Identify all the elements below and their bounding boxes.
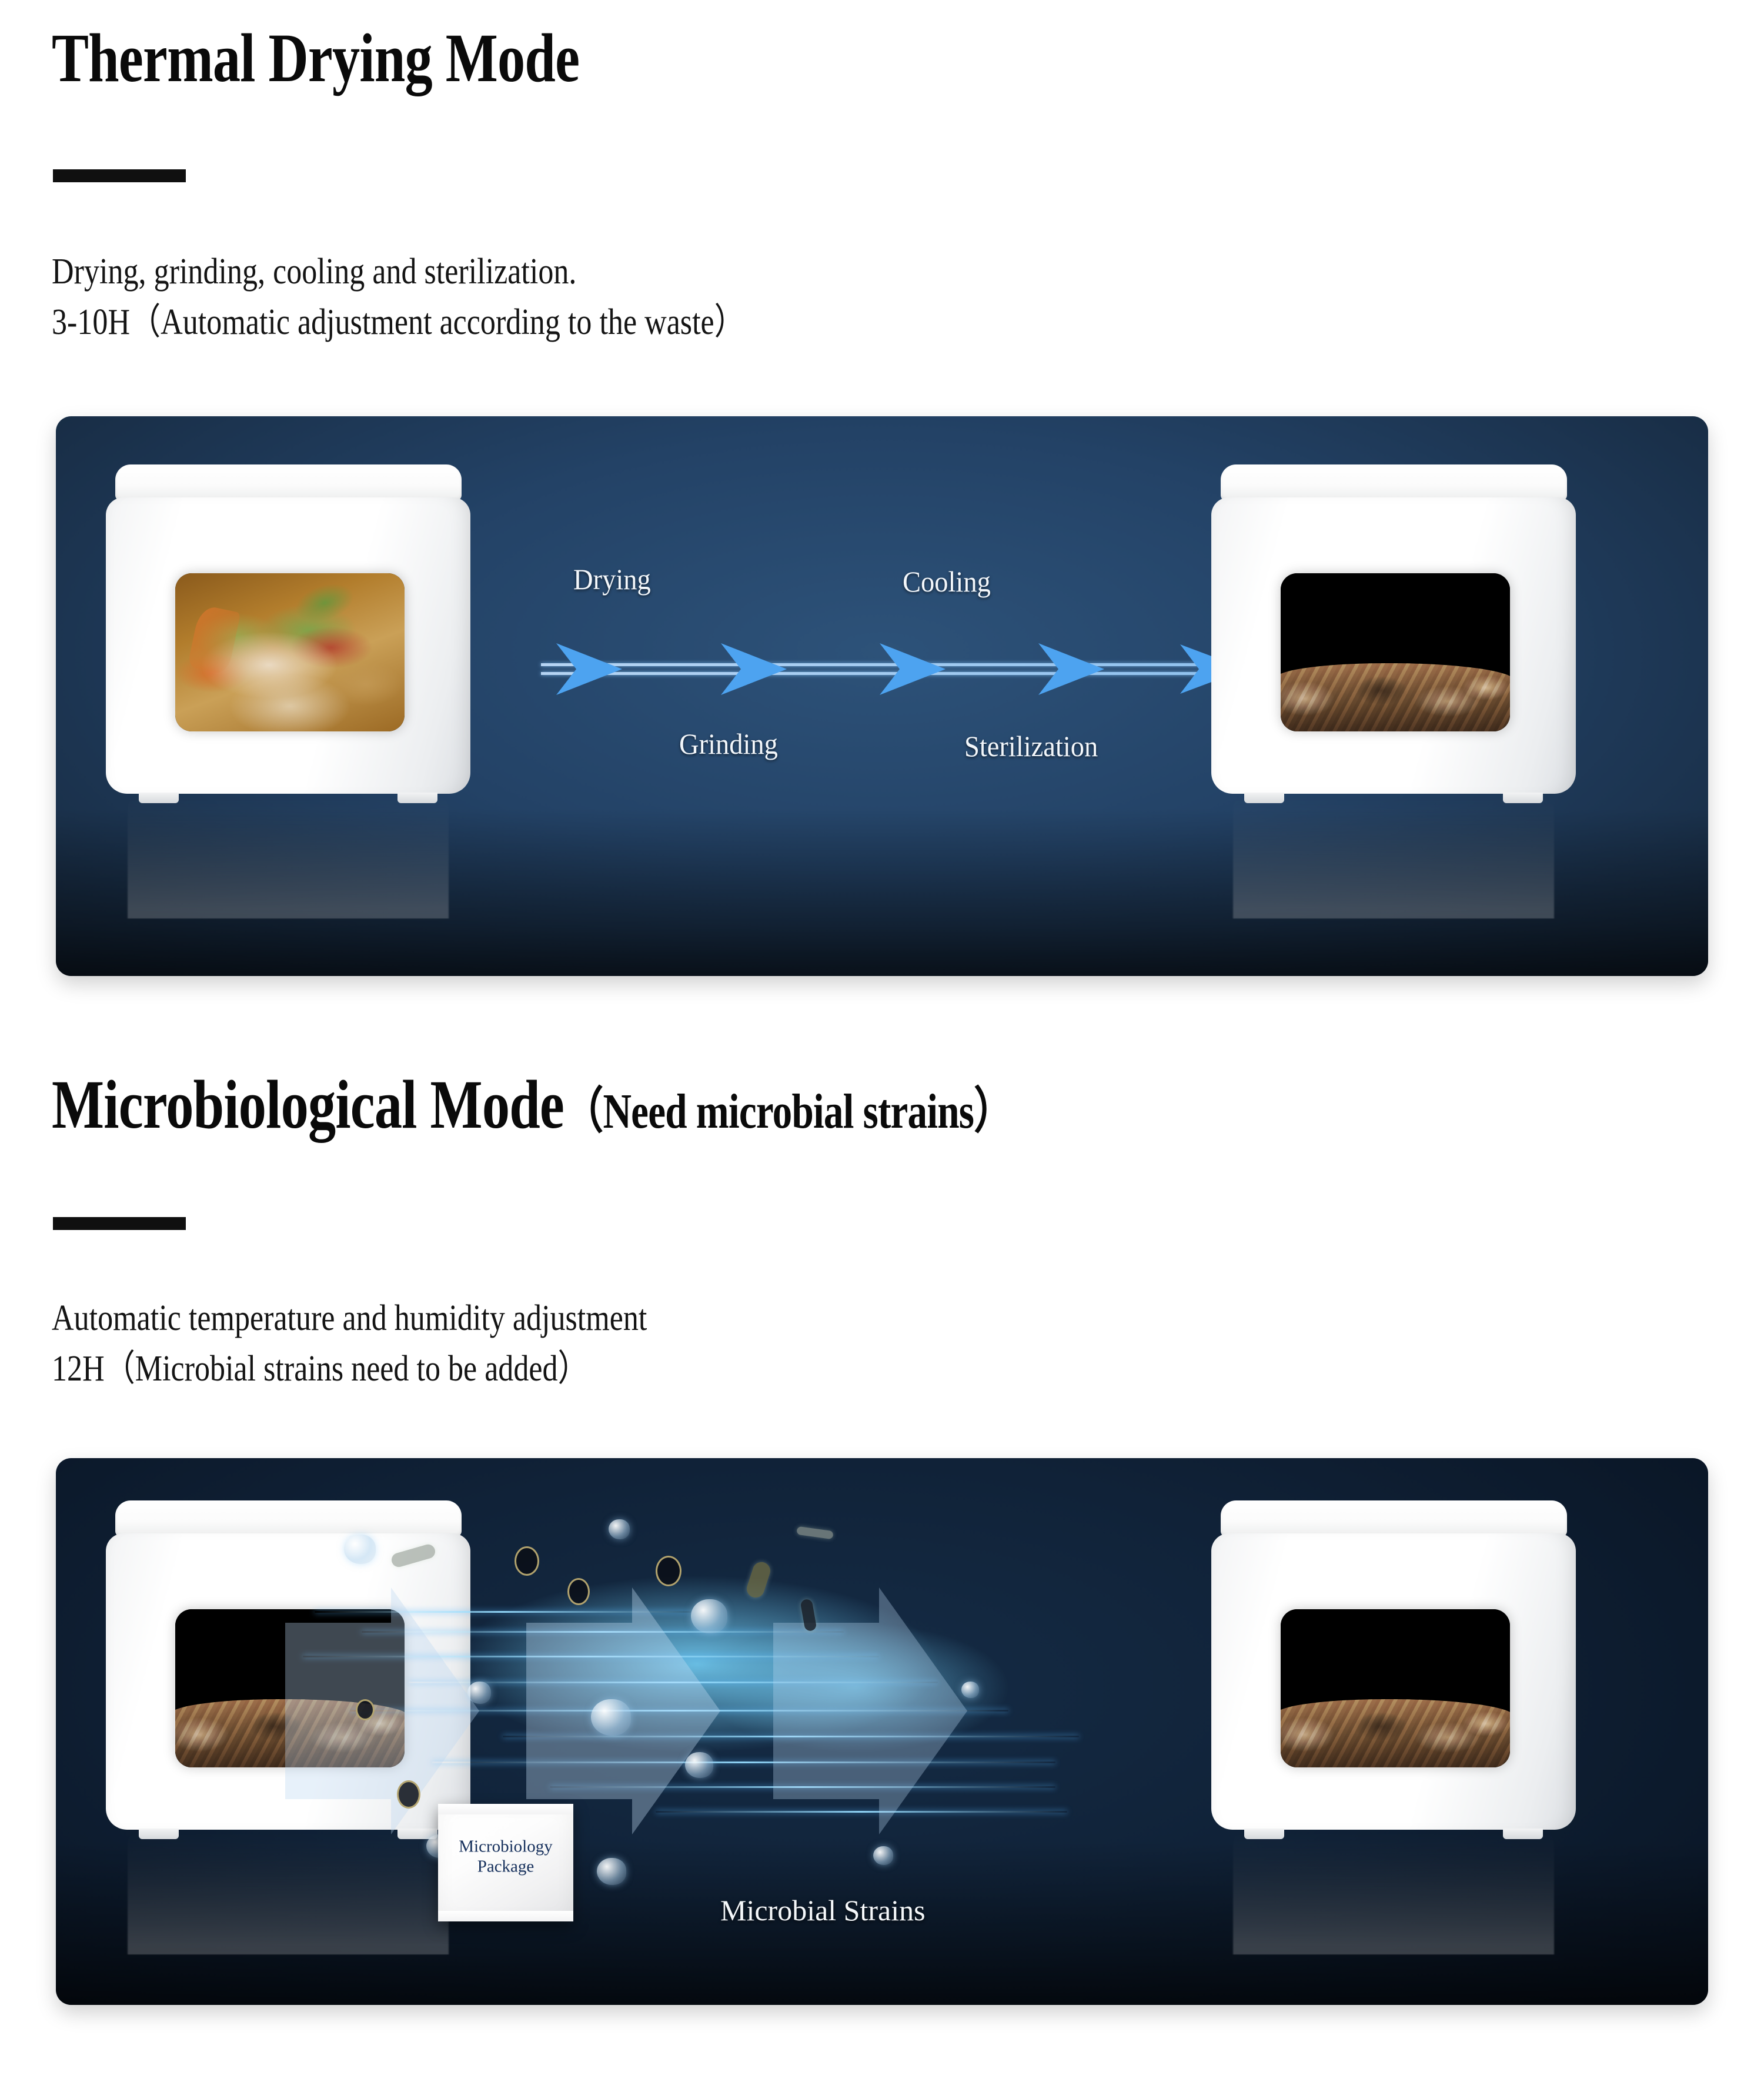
arrow-chevron-4 [1035,641,1111,697]
appliance-body [106,464,470,794]
appliance-input-thermal [106,464,470,794]
spore-particle [656,1556,681,1586]
process-label-sterilization: Sterilization [964,729,1098,763]
product-panel-microbiological: Microbiology Package Microbial Strains [56,1458,1708,2005]
microbe-particle [467,1682,491,1704]
process-arrow-rail [541,651,1249,687]
appliance-window-compost [1281,1609,1511,1767]
flow-arrow-1 [285,1587,479,1834]
reflection-body [128,794,449,919]
microbe-particle [691,1599,727,1633]
arrow-chevron-3 [876,641,953,697]
microbe-particle [597,1858,626,1885]
appliance-lid [1221,464,1567,501]
page-title-microbiological: Microbiological Mode（Need microbial stra… [52,1070,1013,1139]
rod-bacteria-particle [796,1526,833,1539]
rod-bacteria-particle [390,1543,437,1569]
process-label-grinding: Grinding [679,727,778,761]
microbe-particle [344,1535,376,1564]
title-underline-bar-microbiological [53,1217,186,1230]
compost-contents [1281,573,1511,731]
appliance-lid [115,464,462,501]
soil-layer [1281,1699,1511,1767]
microbe-particle [609,1519,630,1539]
arrow-chevron-1 [553,641,629,697]
sachet-label: Microbiology Package [438,1837,573,1876]
product-panel-thermal: Drying Cooling Grinding Sterilization [56,416,1708,976]
compost-contents [1281,1609,1511,1767]
spore-particle [397,1780,420,1809]
title-underline-bar-thermal [53,169,186,182]
subtitle-microbiological: Automatic temperature and humidity adjus… [52,1293,647,1394]
sachet-crimp-bottom [438,1911,573,1921]
microbial-flow-graphic [279,1505,1197,1917]
microbe-particle [961,1682,979,1698]
flow-arrow-3 [773,1587,967,1834]
process-label-cooling: Cooling [903,564,991,599]
appliance-output-thermal [1211,464,1576,794]
food-waste-contents [175,573,405,731]
appliance-output-microbiological [1211,1500,1576,1830]
reflection-body [1233,1830,1554,1955]
appliance-lid [1221,1500,1567,1537]
title-text: Thermal Drying Mode [52,19,579,96]
appliance-reflection [1211,1830,1576,1955]
arrow-chevron-2 [717,641,794,697]
sachet-label-line1: Microbiology [438,1837,573,1857]
title-suffix: （Need microbial strains） [564,1084,1013,1139]
title-text: Microbiological Mode [52,1066,564,1143]
appliance-reflection [1211,794,1576,919]
microbe-particle [685,1752,713,1778]
flow-caption-microbial-strains: Microbial Strains [720,1893,926,1927]
spore-particle [514,1546,539,1576]
appliance-window-compost [1281,573,1511,731]
subtitle-thermal: Drying, grinding, cooling and sterilizat… [52,247,745,347]
appliance-body [1211,464,1576,794]
appliance-reflection [106,794,470,919]
section-microbiological: Microbiological Mode（Need microbial stra… [0,1058,1764,2079]
page-title-thermal: Thermal Drying Mode [52,24,579,93]
sachet-crimp-top [438,1804,573,1814]
section-thermal-drying: Thermal Drying Mode Drying, grinding, co… [0,0,1764,1000]
soil-layer [1281,663,1511,731]
appliance-body [1211,1500,1576,1830]
microbe-particle [591,1699,631,1736]
spore-particle [356,1699,375,1720]
process-label-drying: Drying [573,562,651,596]
microbe-particle [873,1846,893,1865]
microbiology-package-sachet: Microbiology Package [438,1804,573,1921]
reflection-body [1233,794,1554,919]
spore-particle [567,1578,590,1605]
sachet-label-line2: Package [438,1857,573,1877]
appliance-window-food-waste [175,573,405,731]
